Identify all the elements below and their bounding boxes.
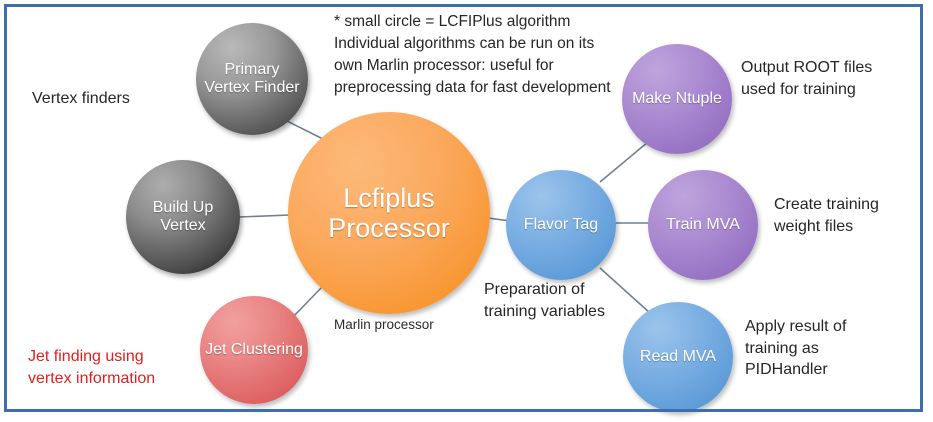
- node-label-flavor-tag: Flavor Tag: [506, 216, 616, 234]
- node-build-up-vertex[interactable]: Build Up Vertex: [126, 160, 240, 274]
- label-create-training-weight-files: Create training weight files: [774, 194, 879, 237]
- label-jet-finding-vertex-information: Jet finding using vertex information: [28, 346, 155, 390]
- annotation-text: * small circle = LCFIPlus algorithm Indi…: [334, 11, 611, 99]
- node-label-primary-vertex-finder: Primary Vertex Finder: [196, 61, 308, 97]
- diagram-canvas: Lcfiplus Processor Primary Vertex Finder…: [0, 0, 933, 422]
- label-preparation-training-variables: Preparation of training variables: [484, 279, 605, 322]
- label-apply-result-pidhandler: Apply result of training as PIDHandler: [745, 316, 846, 381]
- node-label-jet-clustering: Jet Clustering: [200, 341, 308, 359]
- node-primary-vertex-finder[interactable]: Primary Vertex Finder: [196, 23, 308, 135]
- label-output-root-files: Output ROOT files used for training: [741, 57, 872, 100]
- node-make-ntuple[interactable]: Make Ntuple: [622, 44, 732, 154]
- connector-flavor-readmva: [600, 268, 650, 313]
- node-flavor-tag[interactable]: Flavor Tag: [506, 170, 616, 280]
- connector-jet-lcfiplus: [292, 287, 322, 318]
- node-read-mva[interactable]: Read MVA: [623, 302, 733, 412]
- node-label-read-mva: Read MVA: [623, 348, 733, 366]
- node-label-make-ntuple: Make Ntuple: [622, 90, 732, 108]
- label-marlin-processor: Marlin processor: [334, 316, 434, 334]
- node-lcfiplus-processor[interactable]: Lcfiplus Processor: [288, 112, 490, 314]
- node-label-lcfiplus-processor: Lcfiplus Processor: [288, 183, 490, 243]
- node-jet-clustering[interactable]: Jet Clustering: [200, 296, 308, 404]
- connector-flavor-ntuple: [600, 142, 648, 182]
- node-train-mva[interactable]: Train MVA: [648, 170, 758, 280]
- node-label-build-up-vertex: Build Up Vertex: [126, 199, 240, 235]
- connector-buv-lcfiplus: [239, 215, 290, 217]
- node-label-train-mva: Train MVA: [648, 216, 758, 234]
- label-vertex-finders: Vertex finders: [32, 88, 130, 110]
